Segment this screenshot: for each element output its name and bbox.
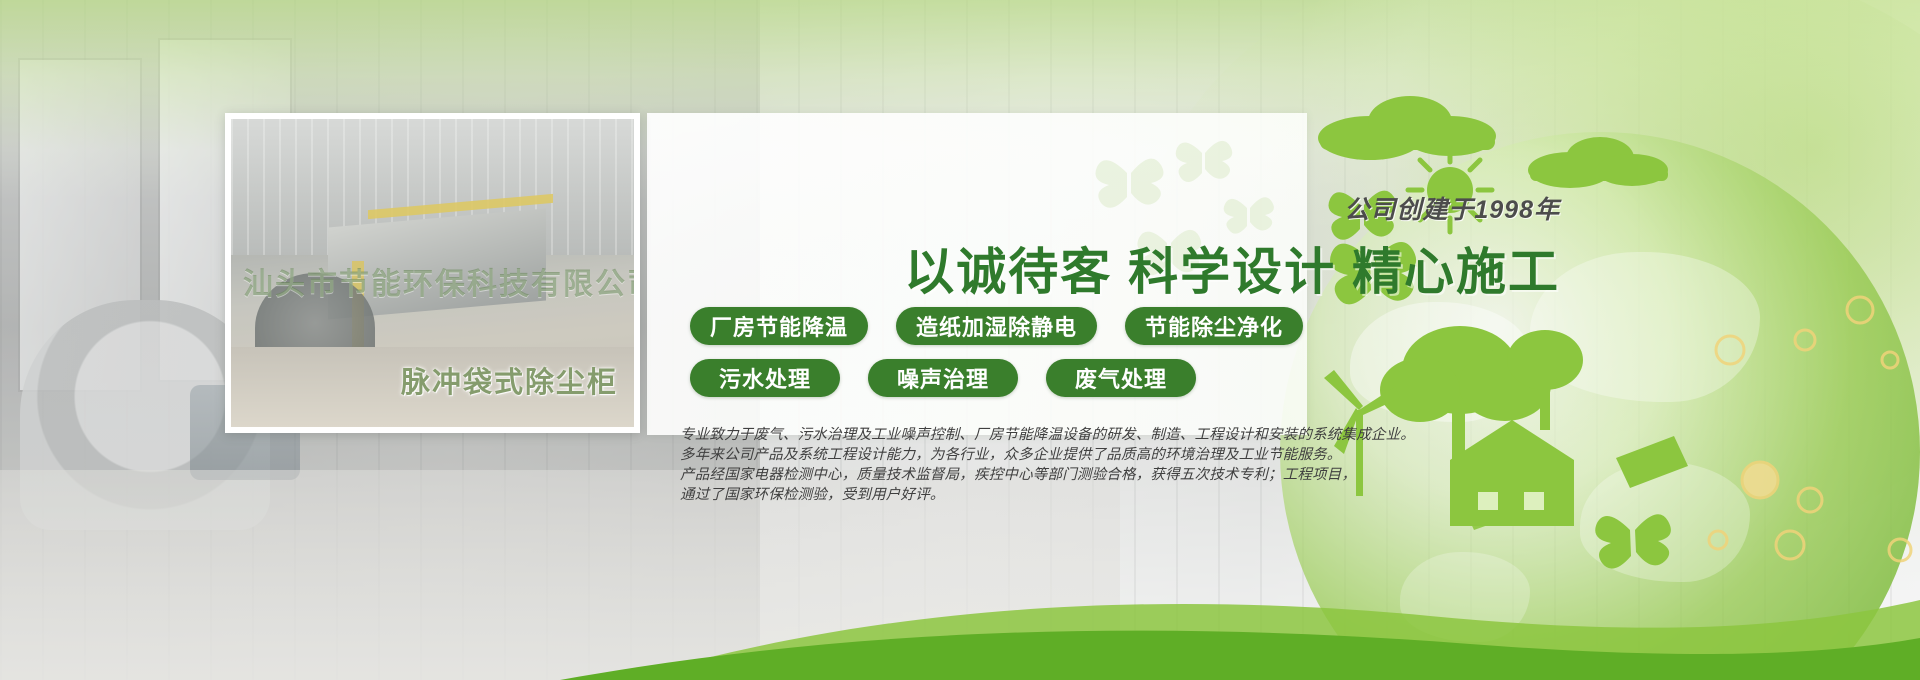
service-tag[interactable]: 厂房节能降温 — [690, 307, 868, 345]
service-tag[interactable]: 造纸加湿除静电 — [896, 307, 1097, 345]
butterfly-icon — [1595, 514, 1671, 568]
service-tag[interactable]: 污水处理 — [690, 359, 840, 397]
house-icon — [1450, 420, 1574, 526]
company-description: 专业致力于废气、污水治理及工业噪声控制、厂房节能降温设备的研发、制造、工程设计和… — [680, 425, 1320, 505]
description-line: 通过了国家环保检测验，受到用户好评。 — [680, 485, 1320, 505]
eco-illustration-group — [1300, 30, 1920, 590]
headline-block: 公司创建于1998年 以诚待客 科学设计 精心施工 — [680, 190, 1680, 304]
established-line: 公司创建于1998年 — [680, 190, 1560, 226]
description-line: 多年来公司产品及系统工程设计能力，为各行业，众多企业提供了品质高的环境治理及工业… — [680, 445, 1320, 465]
headline-slogan: 以诚待客 科学设计 精心施工 — [680, 232, 1560, 304]
service-tag[interactable]: 噪声治理 — [868, 359, 1018, 397]
photo-watermark: 汕头市节能环保科技有限公司 — [243, 259, 622, 303]
product-photo-card[interactable]: 汕头市节能环保科技有限公司 脉冲袋式除尘柜 — [225, 113, 640, 433]
description-line: 产品经国家电器检测中心，质量技术监督局，疾控中心等部门测验合格，获得五次技术专利… — [680, 465, 1320, 485]
cloud-icon — [1318, 96, 1496, 160]
photo-caption: 脉冲袋式除尘柜 — [401, 359, 618, 401]
promo-banner: 汕头市节能环保科技有限公司 脉冲袋式除尘柜 公司创建于1998年 以诚待客 科学… — [0, 0, 1920, 680]
service-tag[interactable]: 废气处理 — [1046, 359, 1196, 397]
butterfly-icon — [1176, 141, 1232, 182]
bokeh-circles — [1709, 297, 1911, 561]
product-photo: 汕头市节能环保科技有限公司 脉冲袋式除尘柜 — [231, 119, 634, 427]
description-line: 专业致力于废气、污水治理及工业噪声控制、厂房节能降温设备的研发、制造、工程设计和… — [680, 425, 1320, 445]
cloud-icon — [1528, 137, 1668, 188]
service-tag-list: 厂房节能降温 造纸加湿除静电 节能除尘净化 污水处理 噪声治理 废气处理 — [690, 307, 1310, 397]
service-tag[interactable]: 节能除尘净化 — [1125, 307, 1303, 345]
